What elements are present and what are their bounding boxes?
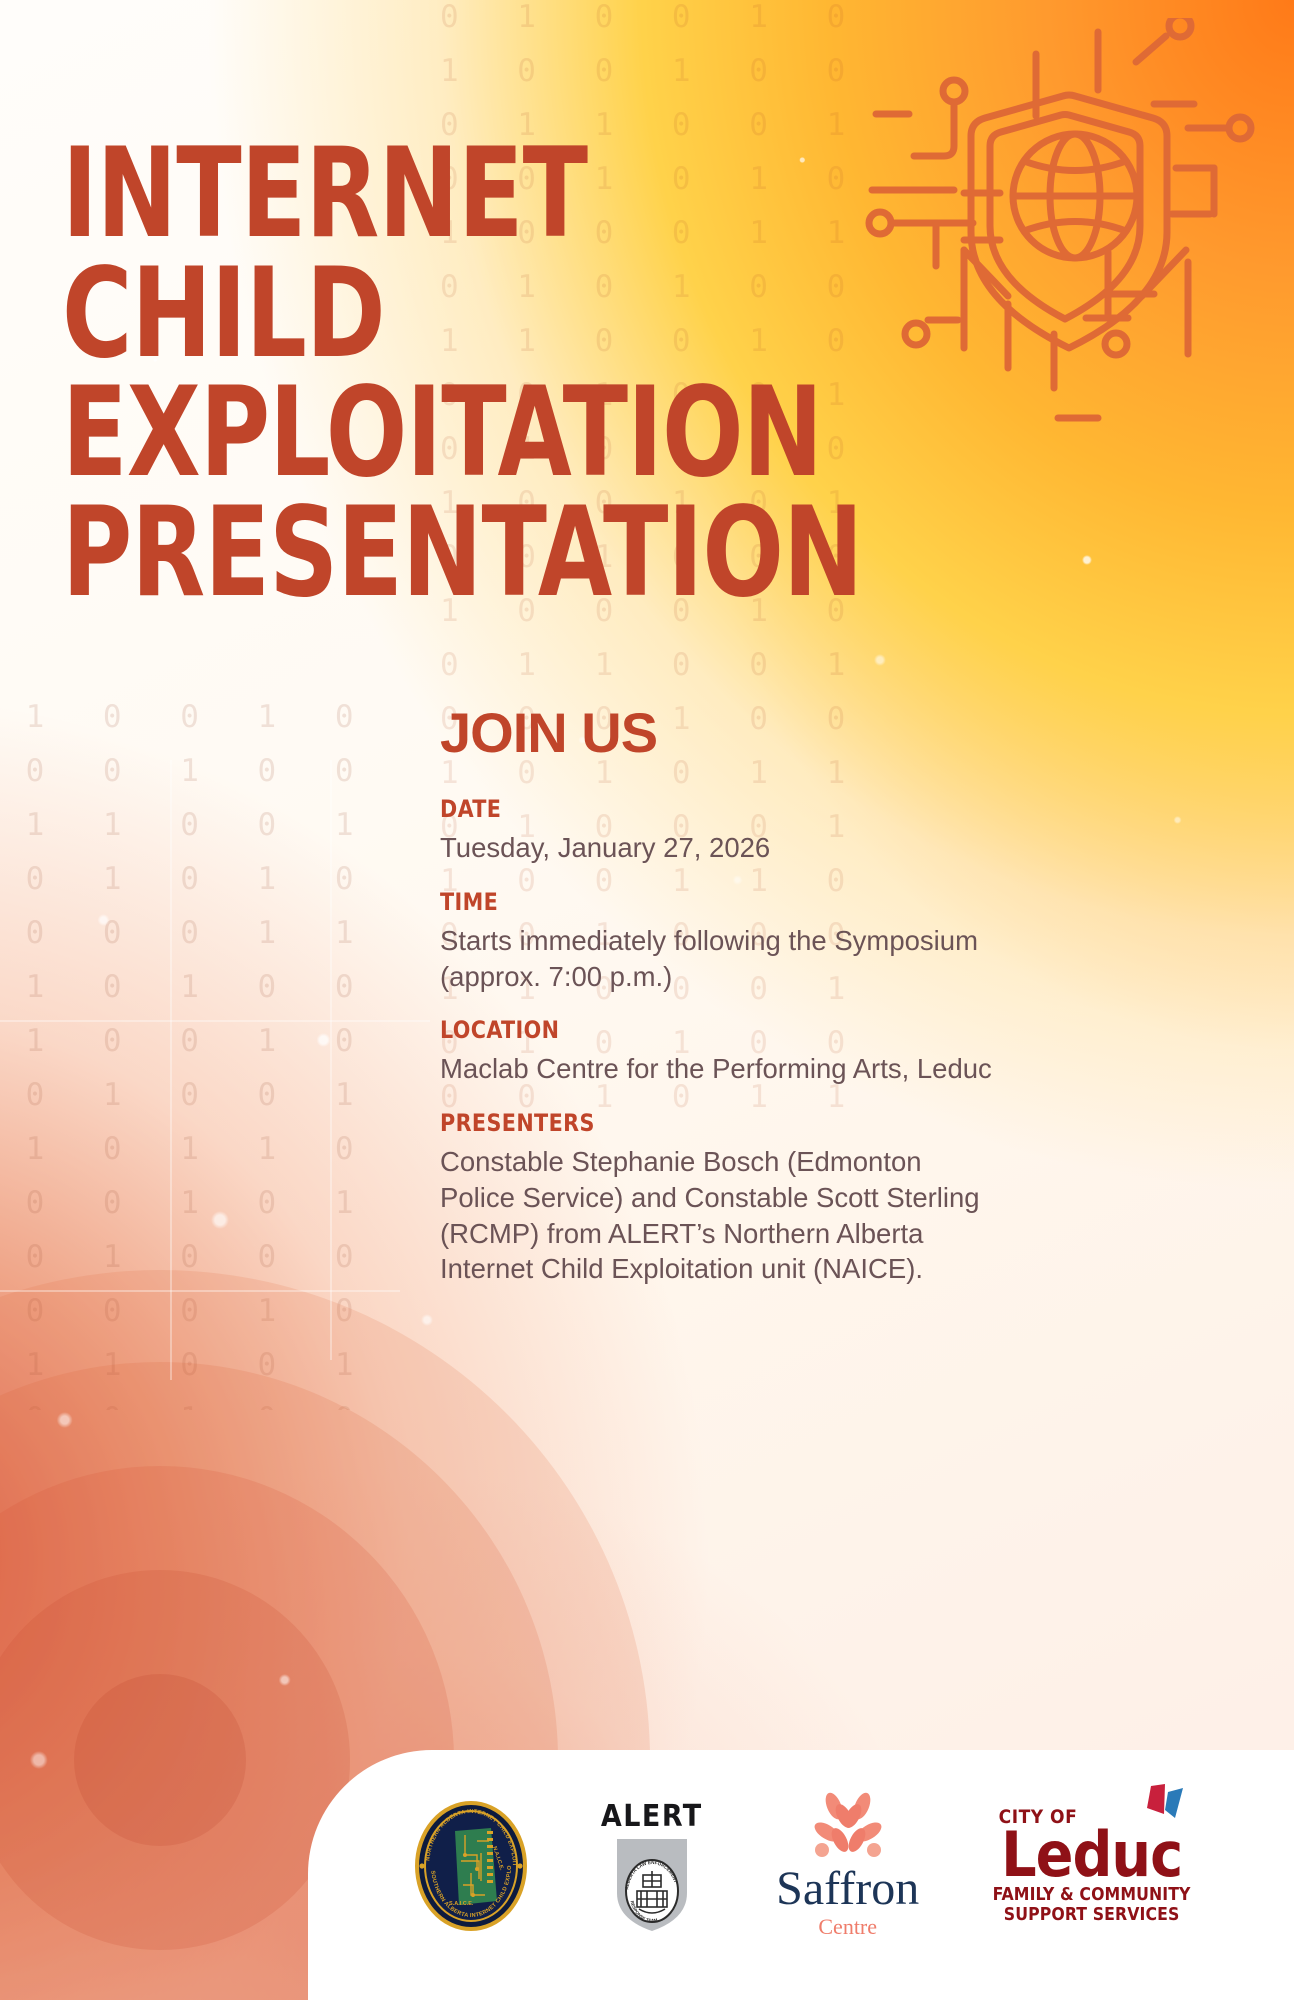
alert-wordmark: ALERT: [601, 1799, 703, 1834]
alert-shield-icon: ALBERTA LAW ENFORCEMENT RESPONSE TEAM: [613, 1837, 691, 1933]
leduc-subtitle-1: FAMILY & COMMUNITY: [993, 1886, 1191, 1906]
poster-canvas: 0 1 0 0 1 0 1 0 0 1 0 0 0 1 1 0 0 1 0 0 …: [0, 0, 1294, 2000]
saffron-subtitle: Centre: [818, 1914, 877, 1940]
leduc-flag-icon: [1131, 1784, 1189, 1836]
join-us-heading: JOIN US: [440, 705, 1000, 761]
saffron-centre-logo: Saffron Centre: [776, 1792, 919, 1940]
leduc-subtitle-2: SUPPORT SERVICES: [1004, 1906, 1180, 1926]
title-line-4: PRESENTATION: [62, 494, 750, 614]
detail-location-value: Maclab Centre for the Performing Arts, L…: [440, 1051, 1000, 1087]
alert-logo: ALERT ALBERTA LAW ENFORCEMENT RESPONS: [601, 1799, 703, 1933]
title-line-2: CHILD: [62, 255, 750, 375]
detail-presenters-label: PRESENTERS: [440, 1109, 978, 1137]
naice-crest-logo: NORTHERN ALBERTA INTERNET CHILD EXPLOITA…: [415, 1801, 527, 1931]
detail-date-label: DATE: [440, 795, 978, 823]
saffron-wordmark: Saffron: [776, 1866, 919, 1912]
detail-presenters-value: Constable Stephanie Bosch (Edmonton Poli…: [440, 1144, 1000, 1287]
detail-time: TIME Starts immediately following the Sy…: [440, 888, 1000, 995]
title-line-3: EXPLOITATION: [62, 374, 750, 494]
event-details: JOIN US DATE Tuesday, January 27, 2026 T…: [440, 705, 1000, 1287]
detail-location-label: LOCATION: [440, 1016, 978, 1044]
city-of-leduc-fcss-logo: CITY OF Leduc FAMILY & COMMUNITY SUPPORT…: [993, 1806, 1191, 1925]
title-line-1: INTERNET: [62, 135, 750, 255]
poster-title: INTERNET CHILD EXPLOITATION PRESENTATION: [62, 135, 750, 614]
sponsor-logo-bar: NORTHERN ALBERTA INTERNET CHILD EXPLOITA…: [308, 1750, 1294, 2000]
detail-time-label: TIME: [440, 888, 978, 916]
svg-text:S.A.I.C.E.: S.A.I.C.E.: [449, 1901, 474, 1907]
detail-date: DATE Tuesday, January 27, 2026: [440, 795, 1000, 866]
detail-time-value: Starts immediately following the Symposi…: [440, 923, 1000, 995]
detail-presenters: PRESENTERS Constable Stephanie Bosch (Ed…: [440, 1109, 1000, 1287]
saffron-flower-icon: [800, 1792, 896, 1864]
detail-date-value: Tuesday, January 27, 2026: [440, 830, 1000, 866]
detail-location: LOCATION Maclab Centre for the Performin…: [440, 1016, 1000, 1087]
